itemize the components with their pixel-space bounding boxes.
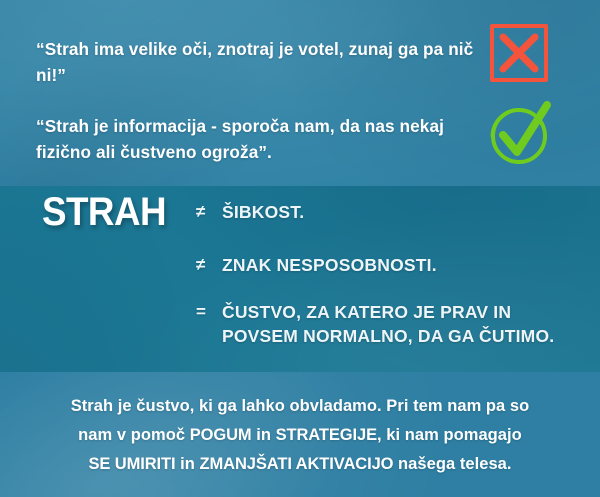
closing-line-3-part-a: in: [175, 455, 199, 473]
quote-text-myth: “Strah ima velike oči, znotraj je votel,…: [36, 36, 476, 88]
closing-line-2-part-a: nam v pomoč: [78, 426, 190, 444]
closing-emphasis-strategije: STRATEGIJE: [276, 426, 377, 444]
closing-line-3-part-d: našega telesa.: [393, 455, 511, 473]
not-equal-sign: ≠: [196, 253, 222, 277]
equation-row: = ČUSTVO, ZA KATERO JE PRAV IN POVSEM NO…: [196, 300, 554, 348]
closing-line-2: nam v pomoč POGUM in STRATEGIJE, ki nam …: [30, 421, 570, 450]
equation-row: ≠ ŠIBKOST.: [196, 200, 304, 224]
closing-emphasis-pogum: POGUM: [190, 426, 252, 444]
closing-emphasis-se-umiriti: SE UMIRITI: [88, 455, 175, 473]
equation-row-text: ZNAK NESPOSOBNOSTI.: [222, 253, 437, 277]
closing-line-2-part-d: , ki nam pomagajo: [377, 426, 522, 444]
x-mark-icon: [488, 22, 550, 84]
equation-row-text: ČUSTVO, ZA KATERO JE PRAV IN POVSEM NORM…: [222, 300, 554, 348]
closing-line-3: SE UMIRITI in ZMANJŠATI AKTIVACIJO našeg…: [30, 450, 570, 479]
closing-line-2-part-c: in: [252, 426, 276, 444]
poster-canvas: “Strah ima velike oči, znotraj je votel,…: [0, 0, 600, 497]
keyword-strah: STRAH: [42, 190, 166, 235]
equation-row-text: ŠIBKOST.: [222, 200, 304, 224]
equals-sign: =: [196, 300, 222, 324]
quote-text-fact: “Strah je informacija - sporoča nam, da …: [36, 113, 476, 165]
equation-row: ≠ ZNAK NESPOSOBNOSTI.: [196, 253, 437, 277]
check-mark-icon: [486, 98, 556, 168]
not-equal-sign: ≠: [196, 200, 222, 224]
closing-paragraph: Strah je čustvo, ki ga lahko obvladamo. …: [30, 392, 570, 479]
closing-emphasis-zmanjsati-aktivacijo: ZMANJŠATI AKTIVACIJO: [200, 455, 394, 473]
closing-line-1: Strah je čustvo, ki ga lahko obvladamo. …: [30, 392, 570, 421]
closing-line-1-text: Strah je čustvo, ki ga lahko obvladamo. …: [71, 397, 530, 415]
